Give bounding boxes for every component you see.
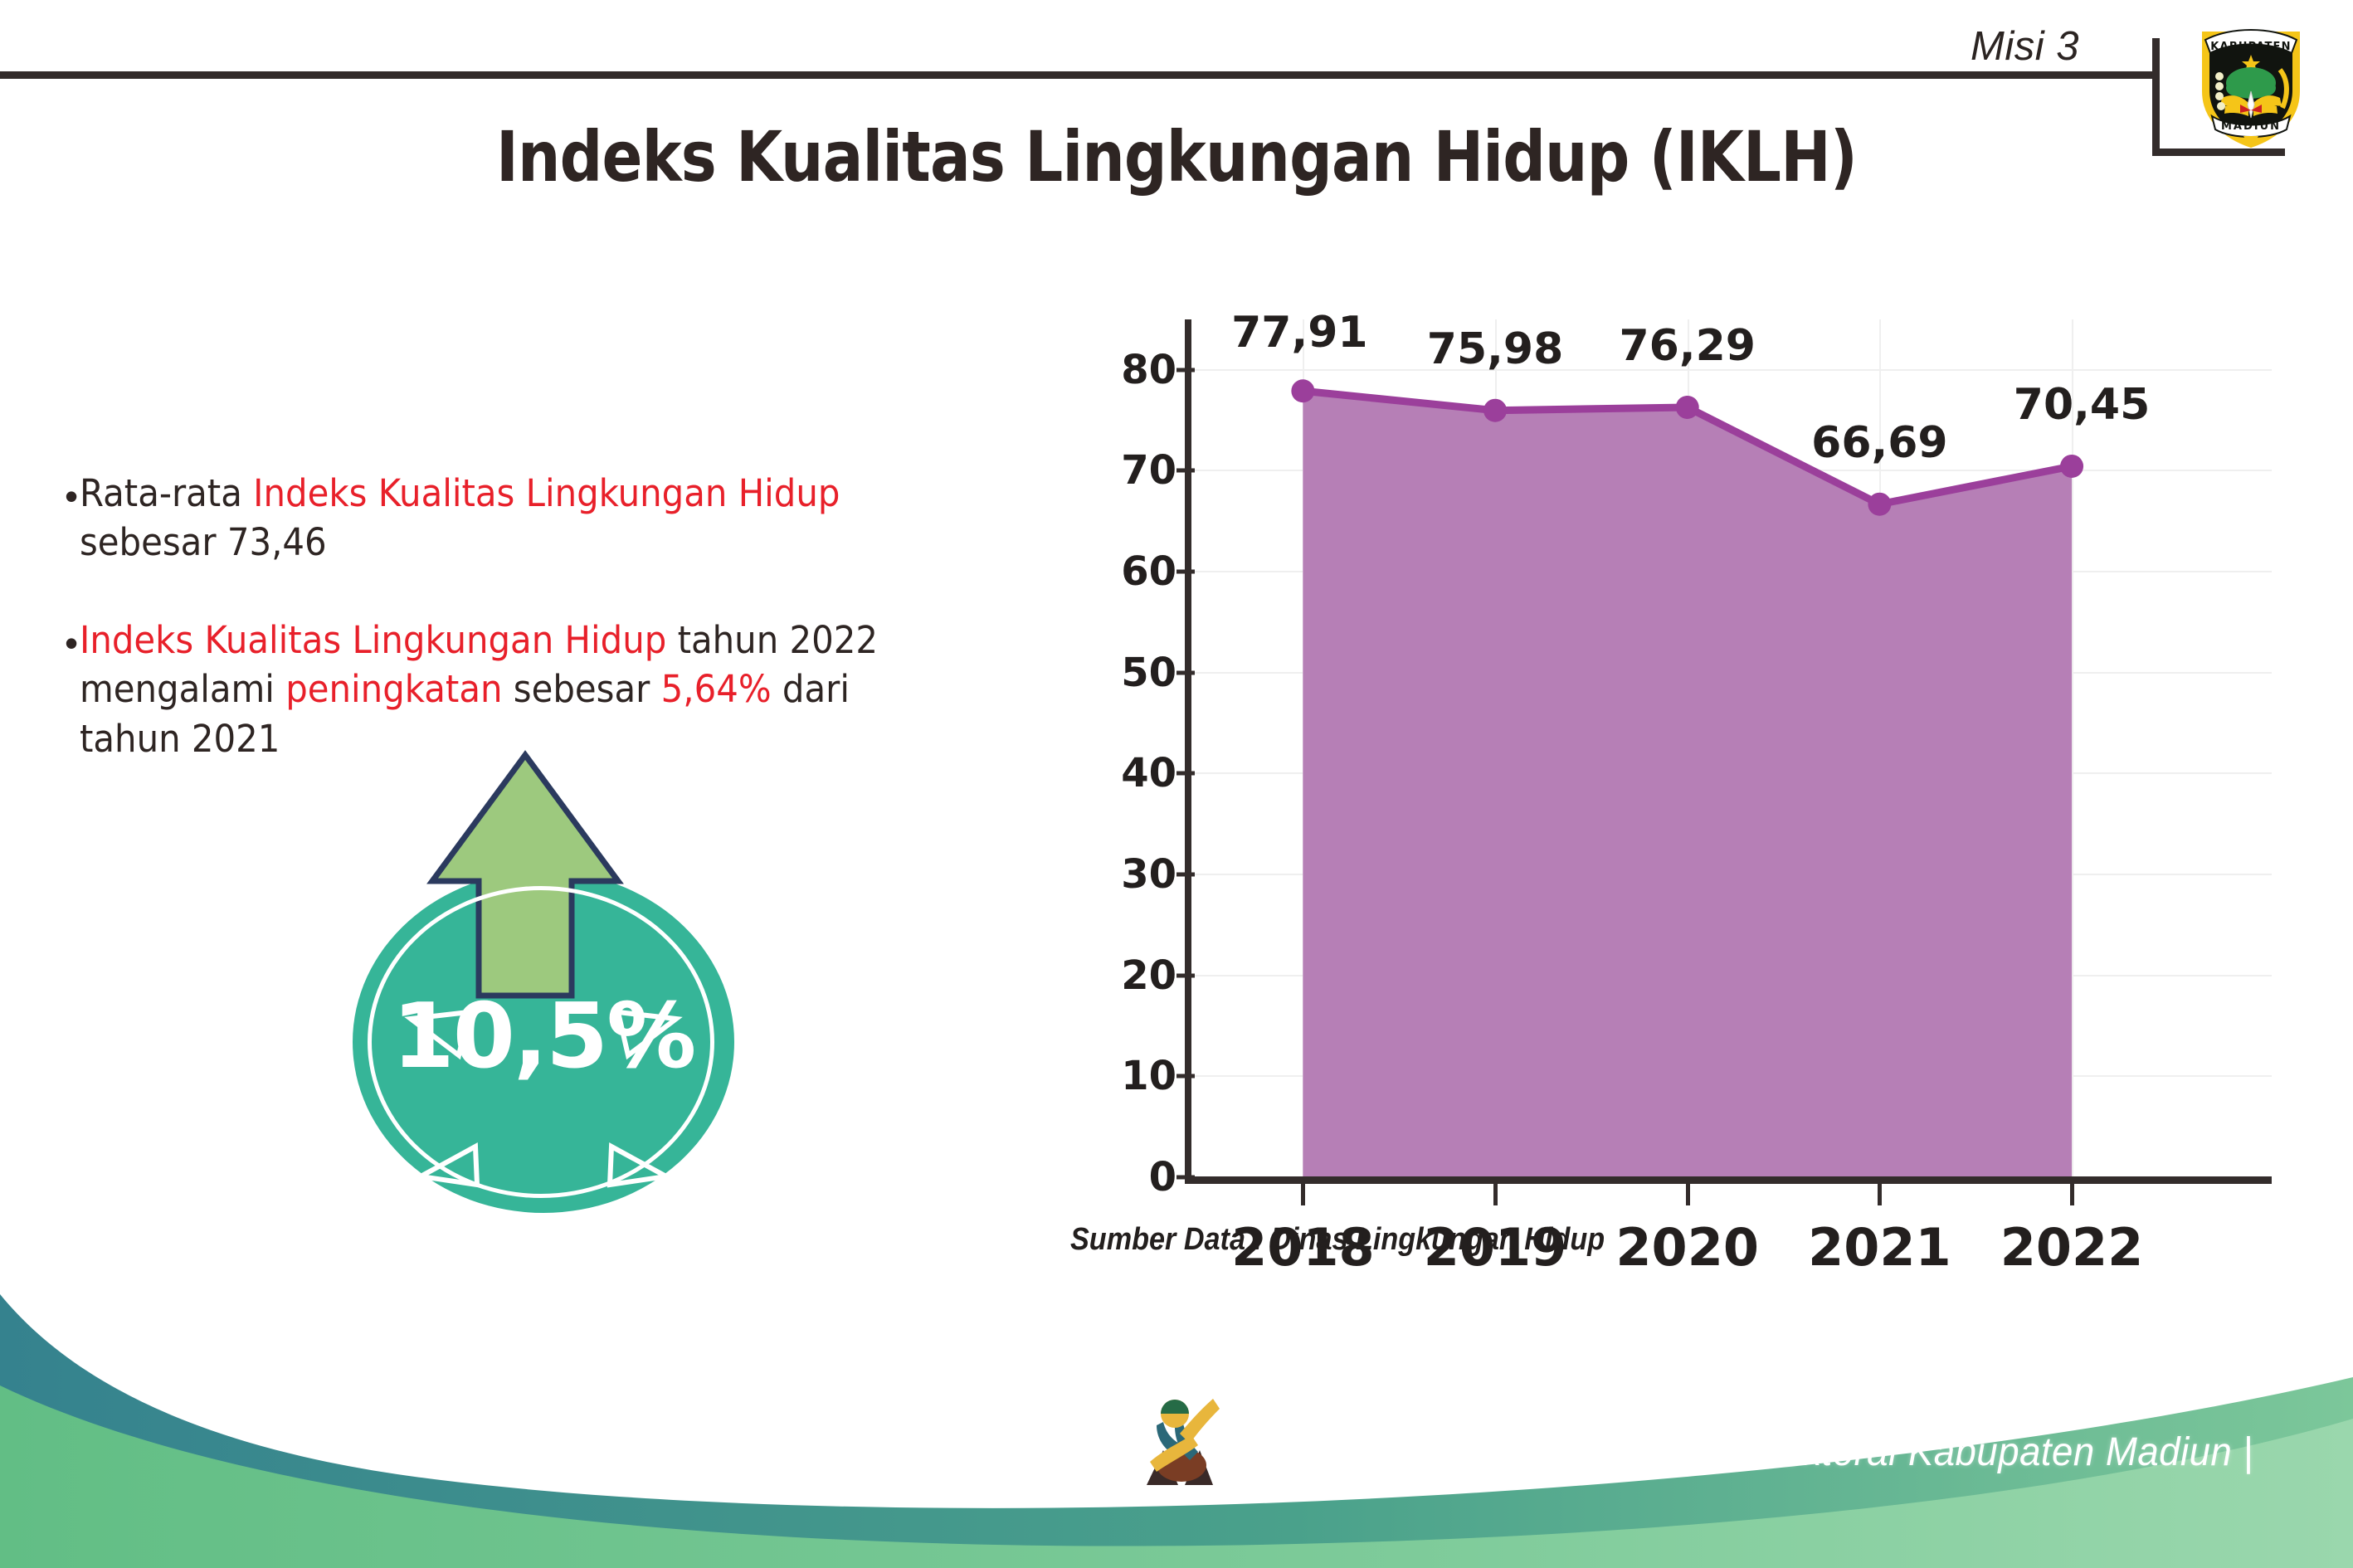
data-point-marker: [1291, 379, 1314, 402]
data-label: 75,98: [1427, 324, 1563, 374]
x-axis-tick: [1493, 1184, 1498, 1205]
x-axis-label: 2022: [1964, 1217, 2180, 1278]
x-axis-tick: [1878, 1184, 1882, 1205]
chart-source-note: Sumber Data : Dinas Lingkungan Hidup: [1070, 1222, 1605, 1258]
svg-text:KABUPATEN: KABUPATEN: [2210, 41, 2291, 53]
iklh-area-chart: 01020304050607080 20182019202020212022 7…: [979, 295, 2273, 1290]
statistics-person-icon: [1138, 1385, 1225, 1492]
highlighted-text: 5,64%: [661, 667, 772, 711]
bullet-text: Indeks Kualitas Lingkungan Hidup tahun 2…: [80, 616, 907, 763]
data-label: 66,69: [1811, 418, 1947, 468]
x-axis-label: 2020: [1580, 1217, 1795, 1278]
y-axis-label: 30: [1044, 851, 1176, 898]
page-title: Indeks Kualitas Lingkungan Hidup (IKLH): [165, 116, 2189, 197]
highlighted-text: Indeks Kualitas Lingkungan Hidup: [80, 618, 666, 662]
y-axis-label: 50: [1044, 650, 1176, 696]
increase-badge: 10,5%: [328, 747, 743, 1211]
highlighted-text: peningkatan: [285, 667, 502, 711]
plain-text: Rata-rata: [80, 471, 253, 515]
y-axis-label: 60: [1044, 548, 1176, 595]
highlighted-text: Indeks Kualitas Lingkungan Hidup: [253, 471, 840, 515]
chart-data-point-markers: [1191, 319, 2272, 1177]
data-label: 70,45: [2014, 380, 2150, 430]
misi-label: Misi 3: [1971, 23, 2079, 70]
y-axis-label: 0: [1044, 1154, 1176, 1200]
data-label: 76,29: [1619, 321, 1755, 371]
kabupaten-madiun-logo-icon: KABUPATEN MADIUN: [2189, 12, 2313, 151]
y-axis-label: 10: [1044, 1053, 1176, 1099]
data-point-marker: [1676, 396, 1699, 419]
chart-x-axis-line: [1185, 1176, 2272, 1184]
data-point-marker: [1483, 399, 1507, 422]
y-axis-label: 70: [1044, 447, 1176, 494]
bullet-marker: •: [65, 624, 78, 662]
svg-text:MADIUN: MADIUN: [2221, 120, 2281, 133]
data-point-marker: [1868, 493, 1891, 516]
data-point-marker: [2060, 455, 2083, 478]
plain-text: sebesar 73,46: [80, 520, 327, 564]
y-axis-label: 20: [1044, 952, 1176, 999]
data-label: 77,91: [1231, 308, 1367, 358]
bullet-marker: •: [65, 477, 78, 515]
bullet-item: •Rata-rata Indeks Kualitas Lingkungan Hi…: [65, 469, 969, 567]
bullet-text: Rata-rata Indeks Kualitas Lingkungan Hid…: [80, 469, 907, 567]
y-axis-label: 80: [1044, 347, 1176, 393]
bullet-item: •Indeks Kualitas Lingkungan Hidup tahun …: [65, 616, 969, 763]
x-axis-tick: [1686, 1184, 1690, 1205]
x-axis-label: 2021: [1771, 1217, 1987, 1278]
plain-text: sebesar: [503, 667, 661, 711]
x-axis-tick: [2070, 1184, 2074, 1205]
badge-value: 10,5%: [353, 985, 734, 1088]
header-divider-line: [0, 71, 2157, 79]
x-axis-tick: [1301, 1184, 1305, 1205]
footer-caption: Media Infografis Data Statistik Sektoral…: [1230, 1429, 2253, 1475]
chart-y-axis-line: [1185, 319, 1191, 1182]
y-axis-label: 40: [1044, 750, 1176, 796]
